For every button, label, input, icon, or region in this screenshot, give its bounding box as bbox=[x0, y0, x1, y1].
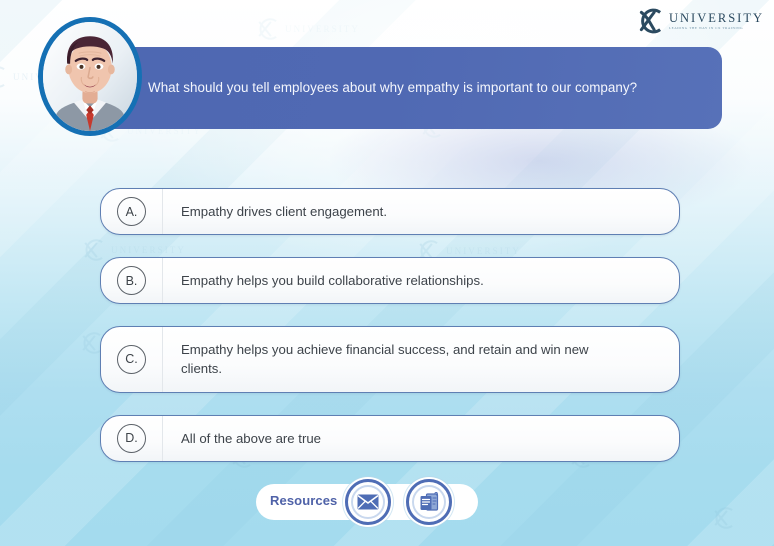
resources-label: Resources bbox=[270, 493, 337, 508]
answer-option-d[interactable]: D. All of the above are true bbox=[100, 415, 680, 462]
quiz-slide: UNIVERSITY UNIVERSITY UNIVERSITY UNIVERS… bbox=[0, 0, 774, 546]
option-letter-badge: B. bbox=[117, 266, 146, 295]
logo-wordmark: UNIVERSITY bbox=[669, 12, 764, 25]
male-presenter-avatar-illustration bbox=[43, 22, 137, 131]
cx-monogram-icon bbox=[254, 16, 280, 42]
question-bubble: What should you tell employees about why… bbox=[92, 47, 722, 129]
option-letter-wrap: B. bbox=[101, 258, 163, 303]
avatar bbox=[38, 17, 142, 136]
watermark-top-center: UNIVERSITY bbox=[254, 16, 360, 42]
button-inner-ring bbox=[412, 485, 446, 519]
answer-option-a[interactable]: A. Empathy drives client engagement. bbox=[100, 188, 680, 235]
logo-tagline: LEADING THE WAY IN CX TRAINING bbox=[669, 27, 764, 30]
answer-options: A. Empathy drives client engagement. B. … bbox=[100, 188, 680, 484]
documents-resource-button[interactable] bbox=[406, 479, 452, 525]
brand-logo: UNIVERSITY LEADING THE WAY IN CX TRAININ… bbox=[635, 6, 764, 36]
cx-monogram-icon bbox=[0, 64, 8, 90]
option-letter-badge: D. bbox=[117, 424, 146, 453]
cx-monogram-icon bbox=[710, 505, 736, 531]
watermark-label: UNIVERSITY bbox=[285, 24, 360, 34]
option-letter-badge: C. bbox=[117, 345, 146, 374]
option-text: Empathy drives client engagement. bbox=[163, 189, 405, 234]
option-letter-wrap: A. bbox=[101, 189, 163, 234]
watermark-corner bbox=[710, 505, 736, 531]
option-text: All of the above are true bbox=[163, 416, 339, 461]
option-text: Empathy helps you achieve financial succ… bbox=[163, 327, 623, 391]
answer-option-b[interactable]: B. Empathy helps you build collaborative… bbox=[100, 257, 680, 304]
answer-option-c[interactable]: C. Empathy helps you achieve financial s… bbox=[100, 326, 680, 392]
resources-bar: Resources bbox=[256, 484, 478, 520]
email-resource-button[interactable] bbox=[345, 479, 391, 525]
cx-monogram-icon bbox=[635, 6, 665, 36]
option-letter-badge: A. bbox=[117, 197, 146, 226]
option-letter-wrap: D. bbox=[101, 416, 163, 461]
button-inner-ring bbox=[351, 485, 385, 519]
question-text: What should you tell employees about why… bbox=[148, 78, 637, 97]
option-letter-wrap: C. bbox=[101, 327, 163, 391]
option-text: Empathy helps you build collaborative re… bbox=[163, 258, 502, 303]
